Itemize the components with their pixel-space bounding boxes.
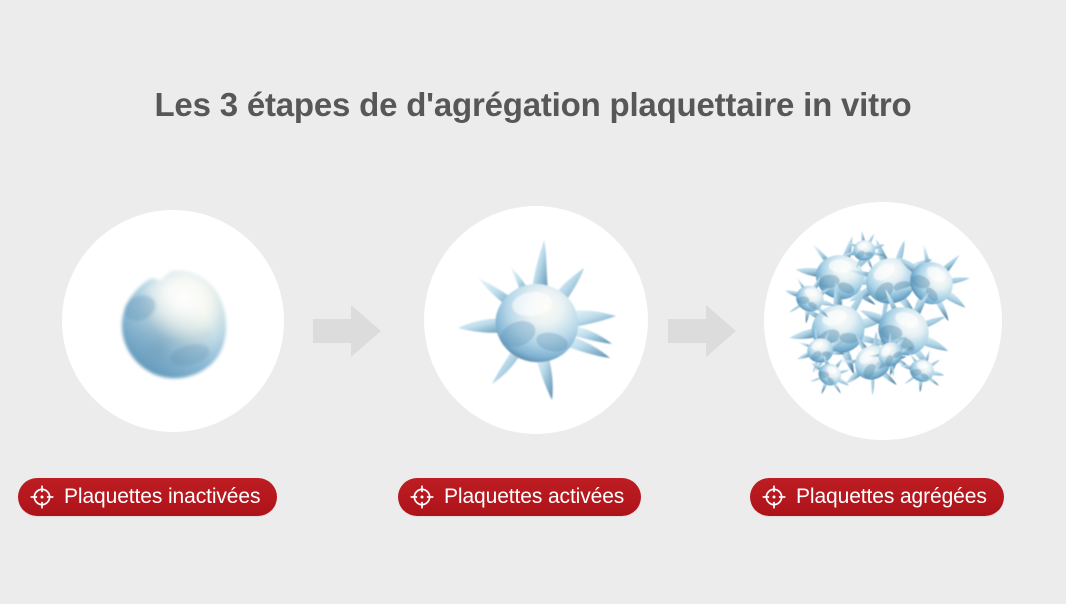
stage-circle-activated (424, 206, 648, 434)
spiky-activated-platelet-icon (424, 206, 648, 434)
stage-badge-aggregated[interactable]: Plaquettes agrégées (750, 478, 1004, 516)
stage-badge-label: Plaquettes agrégées (796, 486, 987, 509)
stage-badge-activated[interactable]: Plaquettes activées (398, 478, 641, 516)
crosshair-icon (29, 484, 55, 510)
stage-badge-inactivated[interactable]: Plaquettes inactivées (18, 478, 277, 516)
single-round-platelet-icon (62, 210, 284, 432)
infographic-canvas: Les 3 étapes de d'agrégation plaquettair… (0, 0, 1066, 604)
page-title: Les 3 étapes de d'agrégation plaquettair… (0, 86, 1066, 124)
stage-circle-aggregated (764, 202, 1002, 440)
stage-badge-label: Plaquettes activées (444, 486, 624, 509)
stage-badge-label: Plaquettes inactivées (64, 486, 260, 509)
arrow-right-icon (668, 305, 736, 357)
crosshair-icon (761, 484, 787, 510)
stage-circle-inactivated (62, 210, 284, 432)
crosshair-icon (409, 484, 435, 510)
aggregated-platelet-cluster-icon (764, 202, 1002, 440)
arrow-right-icon (313, 305, 381, 357)
